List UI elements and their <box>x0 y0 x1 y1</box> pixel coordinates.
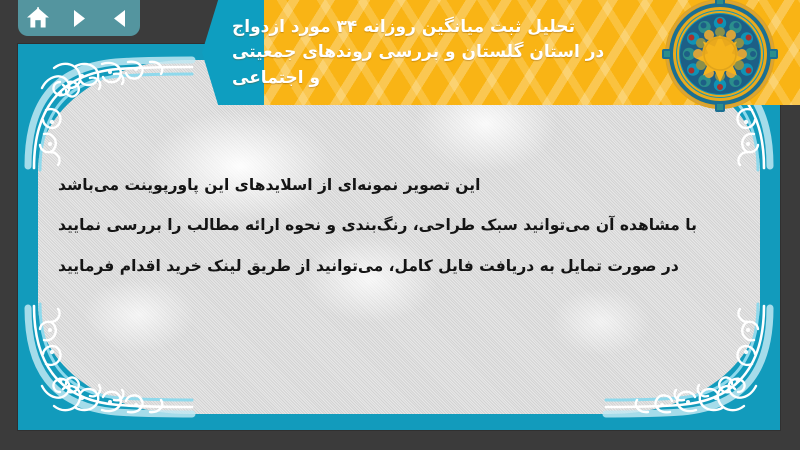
body-line-1: این تصویر نمونه‌ای از اسلایدهای این پاور… <box>58 174 480 197</box>
home-icon <box>26 7 50 29</box>
persian-mandala-medallion <box>662 0 778 112</box>
previous-slide-button[interactable] <box>105 5 135 31</box>
triangle-right-icon <box>71 9 88 28</box>
title-line-2: در استان گلستان و بررسی روندهای جمعیتی <box>232 40 604 64</box>
title-line-1: تحلیل ثبت میانگین روزانه ۳۴ مورد ازدواج <box>232 15 575 39</box>
slide-viewer-window: این تصویر نمونه‌ای از اسلایدهای این پاور… <box>0 0 800 450</box>
body-line-2: با مشاهده آن می‌توانید سبک طراحی، رنگ‌بن… <box>58 214 697 237</box>
navigation-toolbar <box>18 0 140 36</box>
slide-title: تحلیل ثبت میانگین روزانه ۳۴ مورد ازدواج … <box>228 0 704 105</box>
home-button[interactable] <box>23 5 53 31</box>
title-line-3: و اجتماعی <box>232 66 320 90</box>
body-line-3: در صورت تمایل به دریافت فایل کامل، می‌تو… <box>58 255 679 278</box>
slide-body-text: این تصویر نمونه‌ای از اسلایدهای این پاور… <box>58 174 728 278</box>
triangle-left-icon <box>111 9 128 28</box>
next-slide-button[interactable] <box>64 5 94 31</box>
